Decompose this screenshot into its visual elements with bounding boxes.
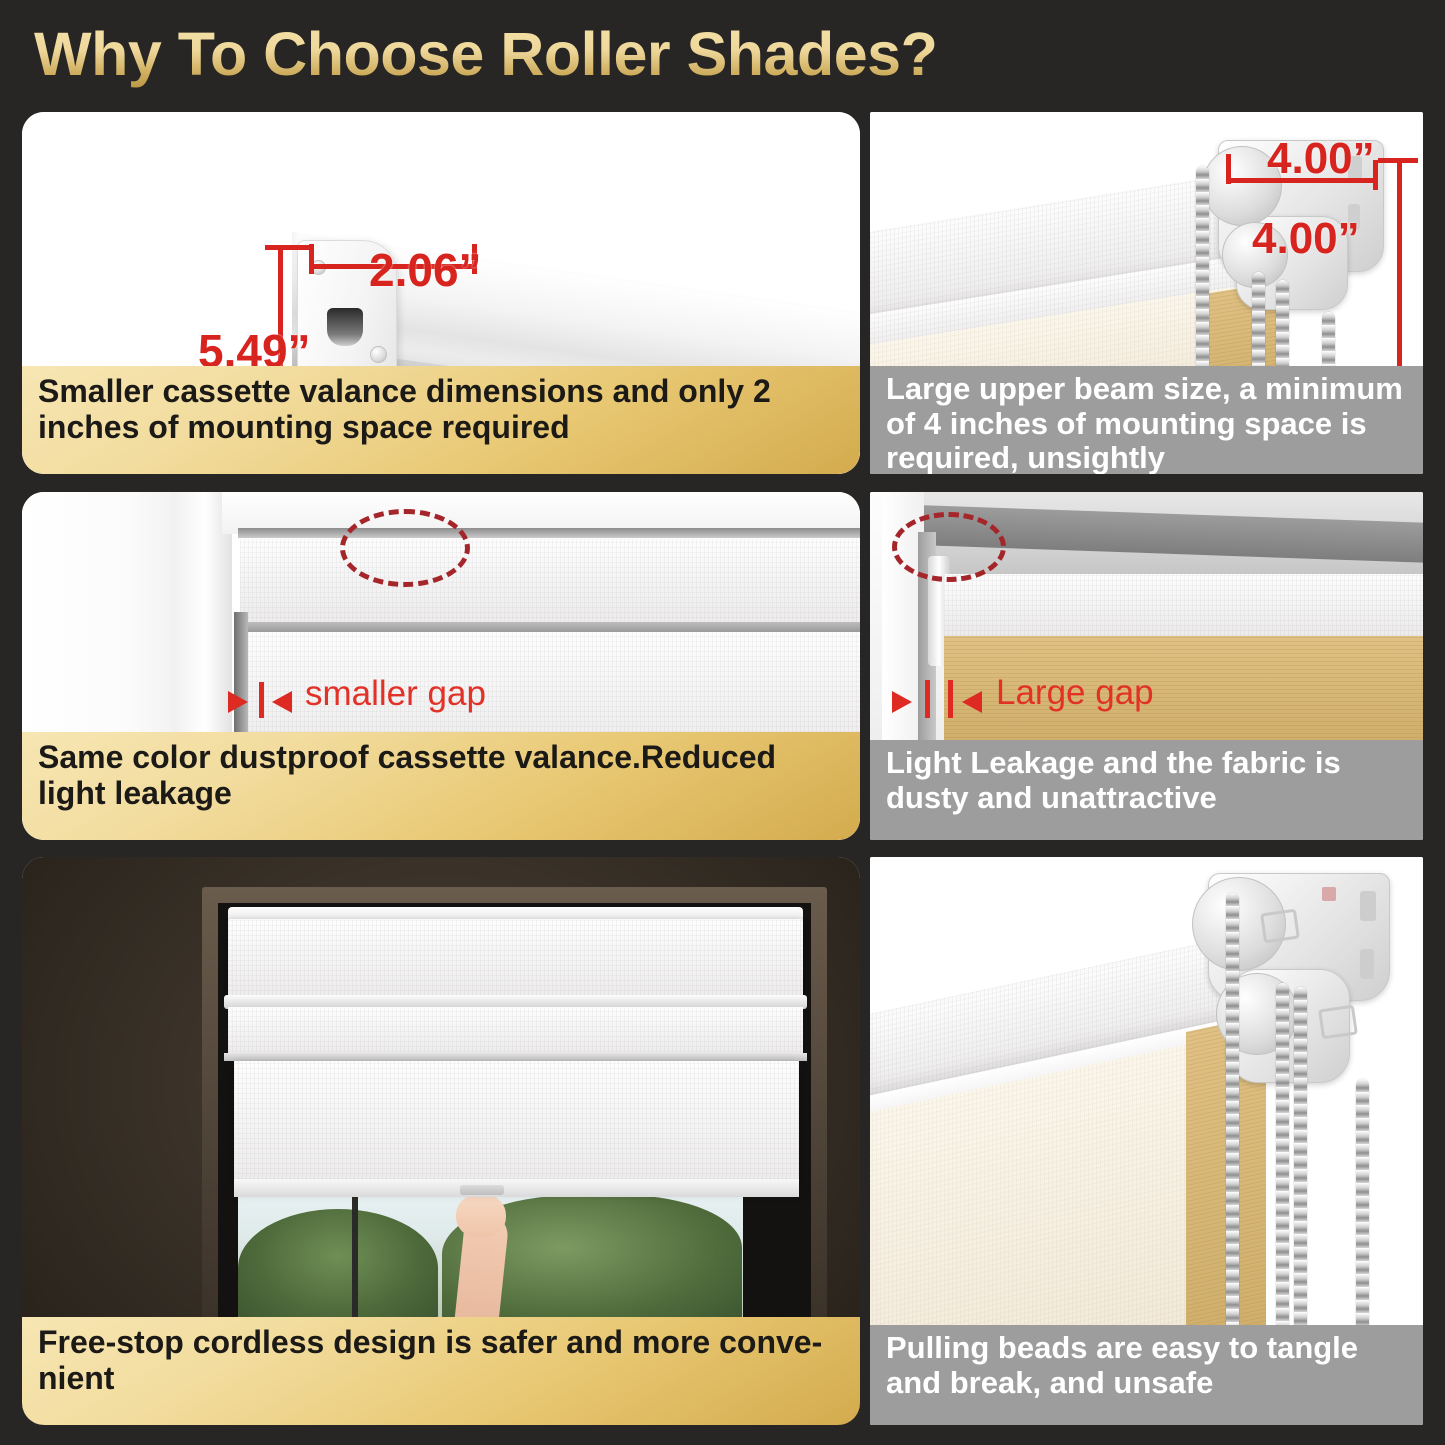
gap-label-smaller: smaller gap xyxy=(305,674,486,714)
large-gap-marker-bar-2 xyxy=(948,680,953,718)
panel-dustproof-cassette-valance: smaller gap Same color dustproof cassett… xyxy=(22,492,860,840)
shade-pull-tab xyxy=(460,1185,504,1195)
dim-beam-width-label: 4.00” xyxy=(1267,134,1375,184)
large-gap-arrow-left xyxy=(962,691,982,713)
shade-bottom-rail xyxy=(234,1179,799,1197)
bracket-emboss-lower xyxy=(1318,1005,1358,1040)
bracket-slot-1 xyxy=(1360,891,1376,921)
bracket-emboss-upper xyxy=(1260,909,1300,944)
panel-cassette-valance-dimensions: 2.06” 5.49” Smaller cassette valance dim… xyxy=(22,112,860,474)
valance-face xyxy=(240,538,860,628)
panel-light-leakage-dusty-fabric: Large gap Light Leakage and the fabric i… xyxy=(870,492,1423,840)
dim-height-tick-top xyxy=(265,245,311,250)
panel-5-caption: Free-stop cordless design is safer and m… xyxy=(22,1317,860,1425)
bead-chain-a xyxy=(1226,893,1239,1333)
gap-arrow-right-pointing xyxy=(228,691,248,713)
panel-pulling-beads-tangle: Pulling beads are easy to tangle and bre… xyxy=(870,857,1423,1425)
end-cap-screw-mid xyxy=(370,346,387,363)
valance-seam xyxy=(238,528,860,538)
tree-left xyxy=(238,1209,438,1327)
panel-1-caption: Smaller cassette valance dimensions and … xyxy=(22,366,860,474)
bead-chain-b xyxy=(1276,983,1289,1335)
gap-marker-bar xyxy=(259,682,264,718)
infographic-page: Why To Choose Roller Shades? 2.06” 5.49 xyxy=(0,0,1445,1445)
panel-free-stop-cordless: Free-stop cordless design is safer and m… xyxy=(22,857,860,1425)
shade-white-band xyxy=(944,574,1423,636)
end-cap-slot xyxy=(327,308,363,346)
cassette-bottom-seam xyxy=(224,1053,807,1061)
bracket-indicator xyxy=(1322,887,1336,901)
gap-arrow-left-pointing xyxy=(272,691,292,713)
panel-2-caption: Large upper beam size, a minimum of 4 in… xyxy=(870,366,1423,474)
bracket-slot-2 xyxy=(1360,949,1374,979)
large-gap-marker-bar-1 xyxy=(925,680,930,718)
panel-3-caption: Same color dustproof cassette valance.Re… xyxy=(22,732,860,840)
dim-beam-height-label: 4.00” xyxy=(1252,214,1360,264)
large-gap-arrow-right xyxy=(892,691,912,713)
page-title: Why To Choose Roller Shades? xyxy=(34,16,1334,92)
highlight-ellipse-seam xyxy=(340,509,470,587)
dim-beam-width-tick-left xyxy=(1226,154,1231,184)
bead-chain-c xyxy=(1294,987,1307,1335)
panel-6-caption: Pulling beads are easy to tangle and bre… xyxy=(870,1325,1423,1425)
hand-fingers xyxy=(456,1195,506,1237)
shade-fabric-drop xyxy=(234,1061,799,1189)
cassette-valance-face xyxy=(228,919,803,1001)
dim-beam-height-line xyxy=(1397,160,1402,375)
gap-label-large: Large gap xyxy=(996,673,1154,713)
panel-large-upper-beam: 4.00” 4.00” Large upper beam size, a min… xyxy=(870,112,1423,474)
window-mullion xyxy=(352,1187,358,1327)
panel-4-caption: Light Leakage and the fabric is dusty an… xyxy=(870,740,1423,840)
cassette-lower-face xyxy=(228,1007,803,1057)
bead-chain-d xyxy=(1356,1079,1369,1335)
highlight-ellipse-gap xyxy=(892,512,1006,582)
dim-width-label: 2.06” xyxy=(369,243,482,297)
dim-beam-height-tick-top xyxy=(1378,158,1418,163)
valance-lower-lip xyxy=(240,622,860,632)
